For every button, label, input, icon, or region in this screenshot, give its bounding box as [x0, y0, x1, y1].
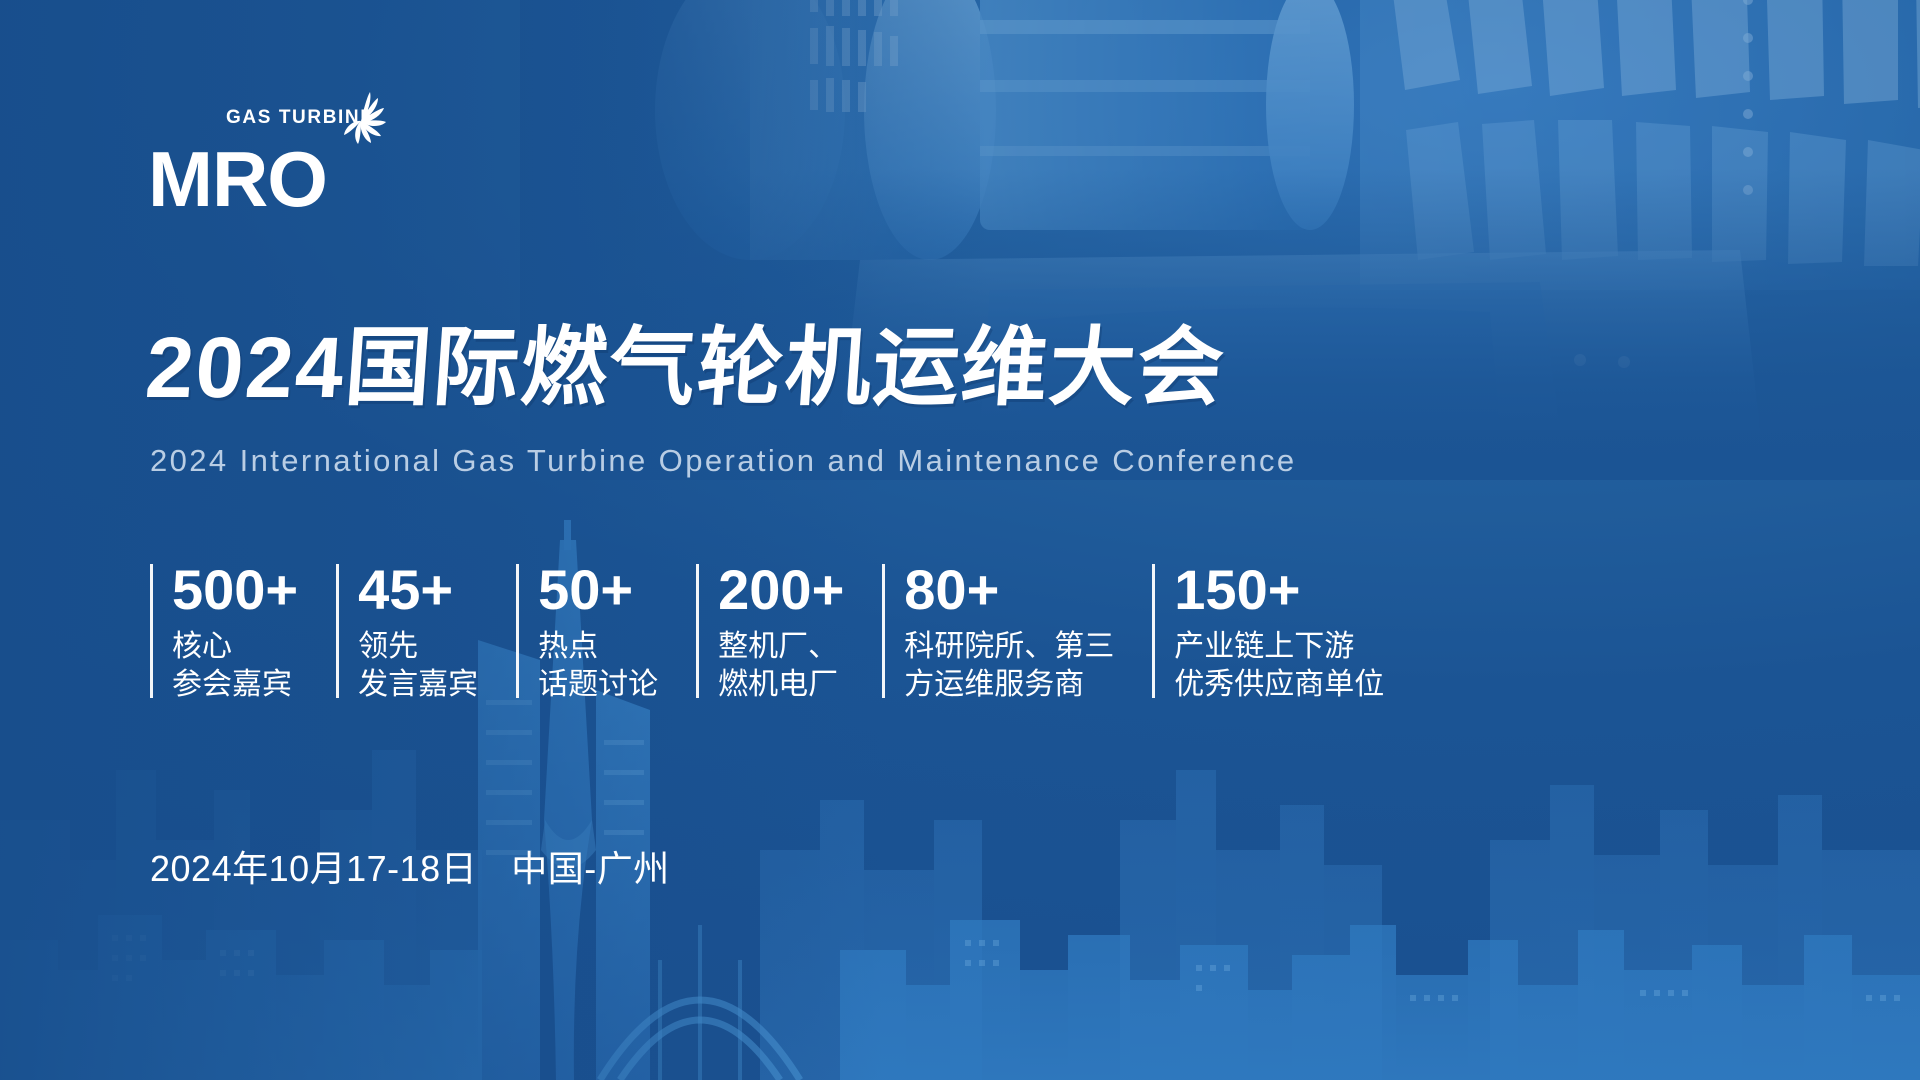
stat-label-line1: 科研院所、第三 — [904, 628, 1114, 666]
stat-label-line2: 发言嘉宾 — [358, 666, 478, 704]
event-meta: 2024年10月17-18日 中国-广州 — [150, 840, 670, 892]
mro-logo: GAS TURBINE MRO — [148, 108, 388, 226]
stat-item: 45+ 领先 发言嘉宾 — [336, 560, 478, 704]
stat-label-line1: 核心 — [172, 628, 298, 666]
stat-item: 200+ 整机厂、 燃机电厂 — [696, 560, 844, 704]
stat-label-line1: 整机厂、 — [718, 628, 844, 666]
banner-content: GAS TURBINE MRO — [0, 0, 1920, 1080]
stat-label: 整机厂、 燃机电厂 — [718, 628, 844, 704]
stat-value: 80+ — [904, 560, 1114, 620]
stat-label-line2: 方运维服务商 — [904, 666, 1114, 704]
page-title: 2024国际燃气轮机运维大会 — [143, 325, 1228, 411]
stat-label-line2: 参会嘉宾 — [172, 666, 298, 704]
stat-item: 150+ 产业链上下游 优秀供应商单位 — [1152, 560, 1384, 704]
logo-wordmark: MRO — [148, 140, 327, 218]
stat-label-line1: 产业链上下游 — [1174, 628, 1384, 666]
stat-label: 科研院所、第三 方运维服务商 — [904, 628, 1114, 704]
stat-value: 200+ — [718, 560, 844, 620]
stat-label: 核心 参会嘉宾 — [172, 628, 298, 704]
stat-value: 45+ — [358, 560, 478, 620]
stat-label: 产业链上下游 优秀供应商单位 — [1174, 628, 1384, 704]
stat-label: 领先 发言嘉宾 — [358, 628, 478, 704]
stat-item: 50+ 热点 话题讨论 — [516, 560, 658, 704]
stat-label-line1: 热点 — [538, 628, 658, 666]
turbine-fan-icon — [330, 90, 392, 152]
stat-label-line2: 燃机电厂 — [718, 666, 844, 704]
event-location: 中国-广州 — [511, 840, 670, 892]
stats-row: 500+ 核心 参会嘉宾 45+ 领先 发言嘉宾 50+ 热点 话题讨论 — [150, 560, 1422, 704]
stat-value: 50+ — [538, 560, 658, 620]
stat-value: 150+ — [1174, 560, 1384, 620]
page-subtitle: 2024 International Gas Turbine Operation… — [150, 443, 1297, 479]
stat-label-line2: 话题讨论 — [538, 666, 658, 704]
stat-item: 80+ 科研院所、第三 方运维服务商 — [882, 560, 1114, 704]
event-date: 2024年10月17-18日 — [150, 840, 477, 892]
stat-label-line2: 优秀供应商单位 — [1174, 666, 1384, 704]
conference-banner: GAS TURBINE MRO — [0, 0, 1920, 1080]
stat-label-line1: 领先 — [358, 628, 478, 666]
stat-item: 500+ 核心 参会嘉宾 — [150, 560, 298, 704]
stat-label: 热点 话题讨论 — [538, 628, 658, 704]
stat-value: 500+ — [172, 560, 298, 620]
